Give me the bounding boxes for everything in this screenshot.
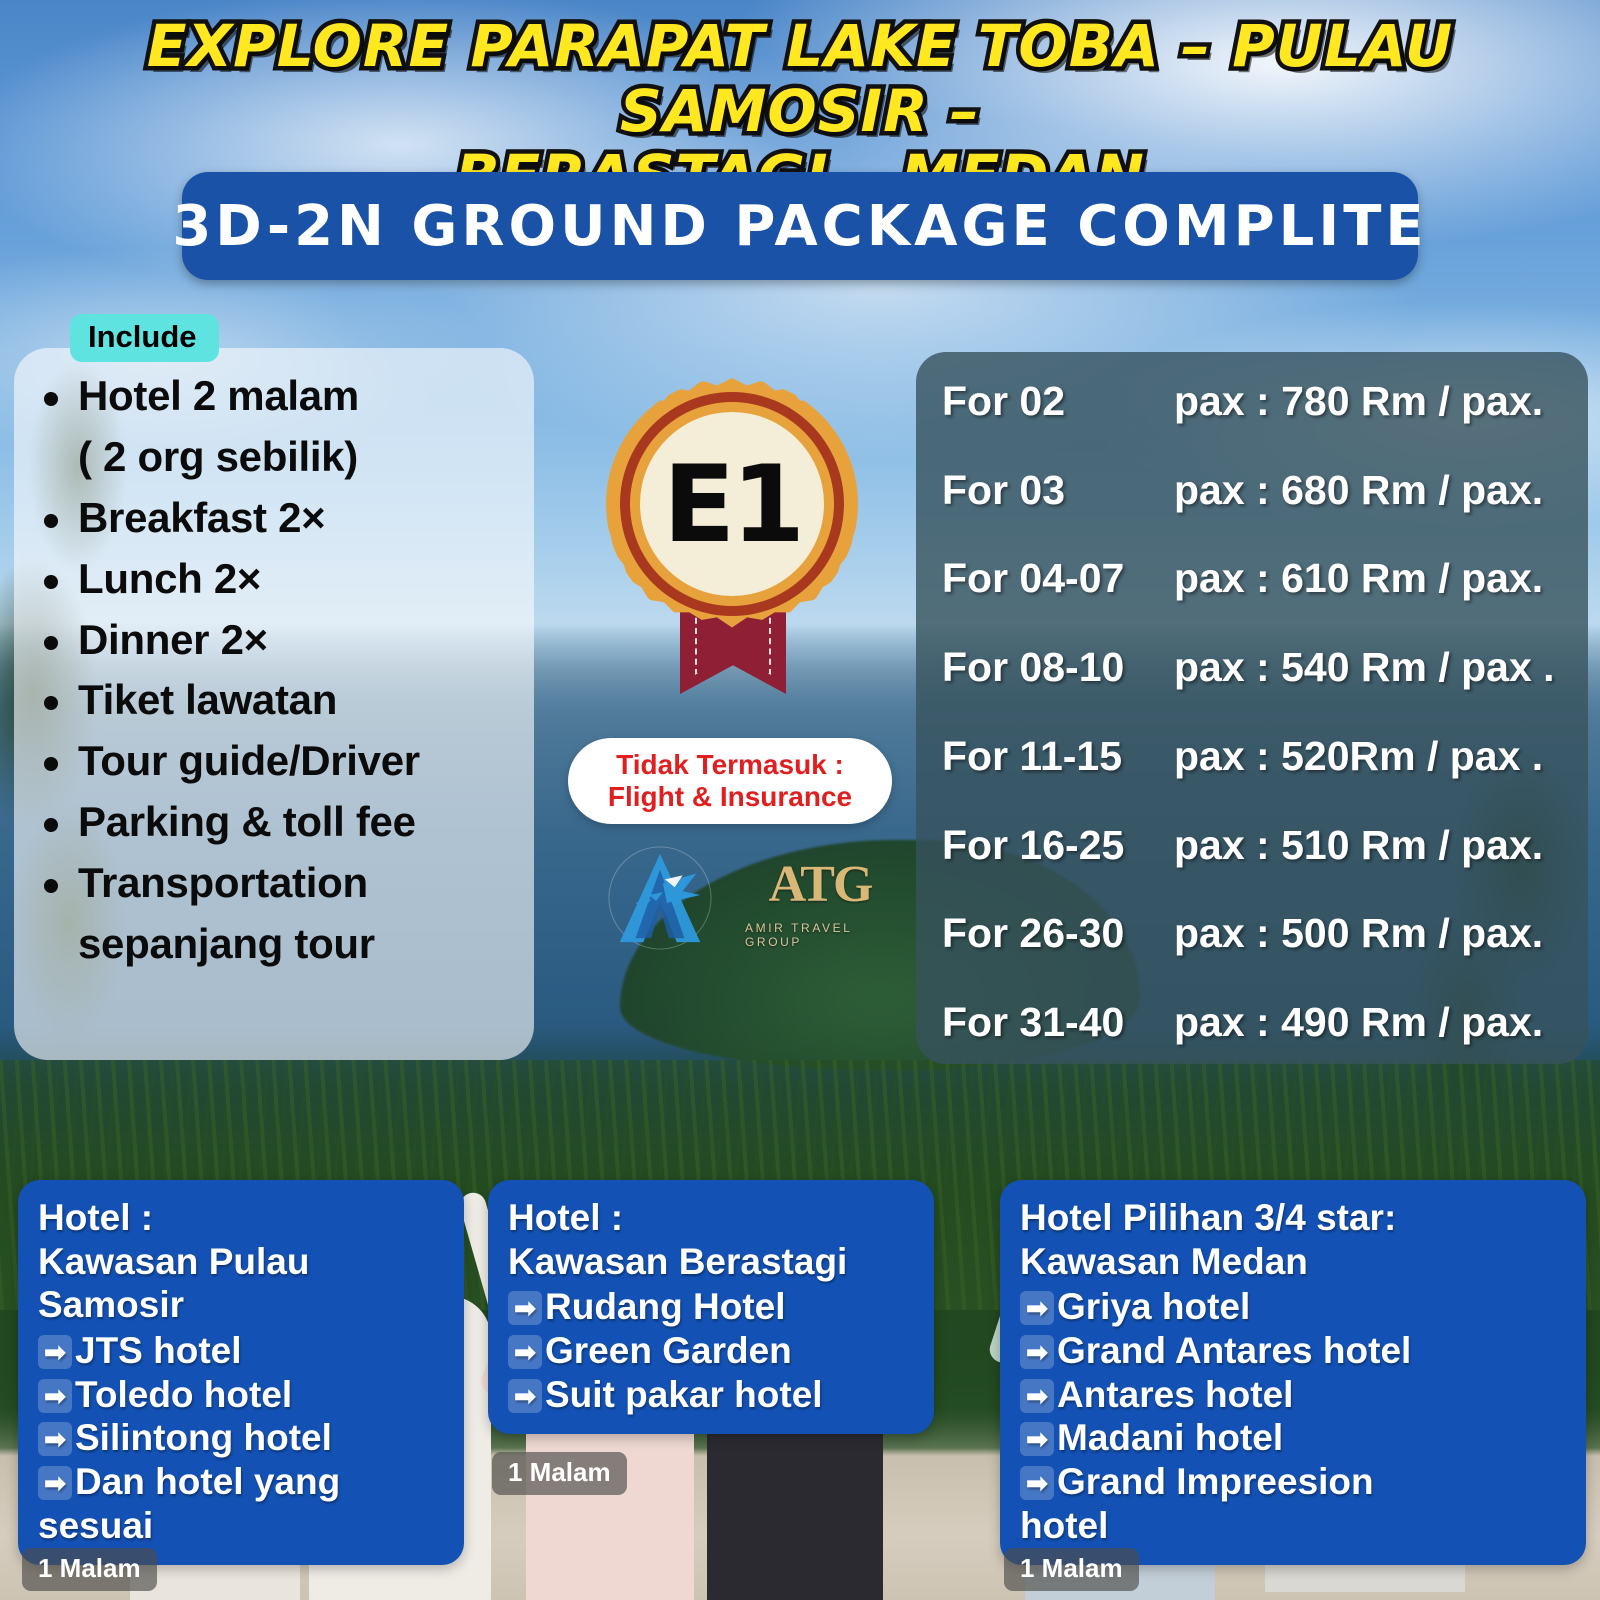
price-row-value: pax : 490 Rm / pax. bbox=[1174, 999, 1566, 1046]
pricing-table: For 02pax : 780 Rm / pax.For 03pax : 680… bbox=[916, 352, 1588, 1064]
include-item: Parking & toll fee bbox=[32, 792, 532, 853]
price-row-label: For 26-30 bbox=[942, 910, 1174, 957]
include-list: Hotel 2 malam( 2 org sebilik)Breakfast 2… bbox=[32, 366, 532, 975]
price-row-label: For 31-40 bbox=[942, 999, 1174, 1046]
hotel-list-item: ➡Rudang Hotel bbox=[508, 1285, 914, 1329]
logo-group: ATG AMIR TRAVEL GROUP bbox=[595, 838, 895, 963]
hotel-name: Green Garden bbox=[545, 1329, 792, 1373]
arrow-right-icon: ➡ bbox=[508, 1291, 542, 1325]
atg-subtitle: AMIR TRAVEL GROUP bbox=[745, 921, 895, 949]
hotel-list-item: ➡Suit pakar hotel bbox=[508, 1373, 914, 1417]
price-row: For 31-40pax : 490 Rm / pax. bbox=[942, 999, 1566, 1046]
exclusions-line2: Flight & Insurance bbox=[608, 781, 852, 813]
price-row: For 16-25pax : 510 Rm / pax. bbox=[942, 822, 1566, 869]
arrow-right-icon: ➡ bbox=[38, 1466, 72, 1500]
price-row: For 04-07pax : 610 Rm / pax. bbox=[942, 555, 1566, 602]
hotel-list-item: ➡Grand Impreesion bbox=[1020, 1460, 1566, 1504]
hotel-card-trailing: sesuai bbox=[38, 1504, 444, 1548]
price-row: For 26-30pax : 500 Rm / pax. bbox=[942, 910, 1566, 957]
arrow-right-icon: ➡ bbox=[38, 1422, 72, 1456]
price-row: For 11-15pax : 520Rm / pax . bbox=[942, 733, 1566, 780]
hotel-card-title: Hotel Pilihan 3/4 star: Kawasan Medan bbox=[1020, 1196, 1566, 1283]
include-item: Tour guide/Driver bbox=[32, 731, 532, 792]
page-title-line1: EXPLORE PARAPAT LAKE TOBA – PULAU SAMOSI… bbox=[80, 14, 1520, 144]
arrow-right-icon: ➡ bbox=[1020, 1422, 1054, 1456]
price-row-value: pax : 610 Rm / pax. bbox=[1174, 555, 1566, 602]
hotel-list-item: ➡Antares hotel bbox=[1020, 1373, 1566, 1417]
hotel-name: Griya hotel bbox=[1057, 1285, 1250, 1329]
hotel-card-trailing: hotel bbox=[1020, 1504, 1566, 1548]
arrow-right-icon: ➡ bbox=[1020, 1466, 1054, 1500]
include-item: Tiket lawatan bbox=[32, 670, 532, 731]
hotel-list-item: ➡Silintong hotel bbox=[38, 1416, 444, 1460]
nights-badge: 1 Malam bbox=[1004, 1548, 1139, 1591]
price-row-label: For 08-10 bbox=[942, 644, 1174, 691]
package-code-label: E1 bbox=[640, 412, 824, 596]
hotel-name: Antares hotel bbox=[1057, 1373, 1293, 1417]
price-row: For 02pax : 780 Rm / pax. bbox=[942, 378, 1566, 425]
hotel-card-samosir: Hotel : Kawasan Pulau Samosir ➡JTS hotel… bbox=[18, 1180, 464, 1565]
hotel-name: Dan hotel yang bbox=[75, 1460, 340, 1504]
hotel-name: Grand Antares hotel bbox=[1057, 1329, 1411, 1373]
price-row: For 08-10pax : 540 Rm / pax . bbox=[942, 644, 1566, 691]
arrow-right-icon: ➡ bbox=[1020, 1335, 1054, 1369]
hotel-name: Silintong hotel bbox=[75, 1416, 332, 1460]
price-row-label: For 03 bbox=[942, 467, 1174, 514]
price-row-value: pax : 520Rm / pax . bbox=[1174, 733, 1566, 780]
exclusions-pill: Tidak Termasuk : Flight & Insurance bbox=[568, 738, 892, 824]
include-item: ( 2 org sebilik) bbox=[32, 427, 532, 488]
price-row-label: For 16-25 bbox=[942, 822, 1174, 869]
hotel-list: ➡JTS hotel➡Toledo hotel➡Silintong hotel➡… bbox=[38, 1329, 444, 1504]
hotel-name: Rudang Hotel bbox=[545, 1285, 785, 1329]
nights-badge: 1 Malam bbox=[492, 1452, 627, 1495]
hotel-list-item: ➡Green Garden bbox=[508, 1329, 914, 1373]
include-item: Transportation bbox=[32, 853, 532, 914]
price-row: For 03pax : 680 Rm / pax. bbox=[942, 467, 1566, 514]
hotel-card-title: Hotel : Kawasan Pulau Samosir bbox=[38, 1196, 444, 1327]
arrow-right-icon: ➡ bbox=[38, 1335, 72, 1369]
hotel-name: Grand Impreesion bbox=[1057, 1460, 1374, 1504]
package-banner: 3D-2N GROUND PACKAGE COMPLITE bbox=[182, 172, 1418, 280]
hotel-list-item: ➡Griya hotel bbox=[1020, 1285, 1566, 1329]
price-row-value: pax : 500 Rm / pax. bbox=[1174, 910, 1566, 957]
arrow-right-icon: ➡ bbox=[508, 1335, 542, 1369]
price-row-value: pax : 780 Rm / pax. bbox=[1174, 378, 1566, 425]
hotel-list-item: ➡Toledo hotel bbox=[38, 1373, 444, 1417]
atg-logo: ATG AMIR TRAVEL GROUP bbox=[745, 848, 895, 960]
include-item: Lunch 2× bbox=[32, 549, 532, 610]
plane-arrow-logo-icon bbox=[605, 844, 715, 952]
include-item: sepanjang tour bbox=[32, 914, 532, 975]
hotel-list: ➡Rudang Hotel➡Green Garden➡Suit pakar ho… bbox=[508, 1285, 914, 1416]
price-row-value: pax : 540 Rm / pax . bbox=[1174, 644, 1566, 691]
package-banner-label: 3D-2N GROUND PACKAGE COMPLITE bbox=[172, 194, 1427, 259]
hotel-name: Toledo hotel bbox=[75, 1373, 292, 1417]
arrow-right-icon: ➡ bbox=[38, 1379, 72, 1413]
price-row-value: pax : 510 Rm / pax. bbox=[1174, 822, 1566, 869]
hotel-list-item: ➡Grand Antares hotel bbox=[1020, 1329, 1566, 1373]
price-row-label: For 04-07 bbox=[942, 555, 1174, 602]
atg-mark: ATG bbox=[769, 859, 872, 911]
include-item: Hotel 2 malam bbox=[32, 366, 532, 427]
hotel-list-item: ➡Madani hotel bbox=[1020, 1416, 1566, 1460]
hotel-list-item: ➡JTS hotel bbox=[38, 1329, 444, 1373]
arrow-right-icon: ➡ bbox=[1020, 1291, 1054, 1325]
hotel-name: Madani hotel bbox=[1057, 1416, 1283, 1460]
package-code-badge: E1 bbox=[592, 378, 872, 708]
hotel-name: Suit pakar hotel bbox=[545, 1373, 823, 1417]
arrow-right-icon: ➡ bbox=[508, 1379, 542, 1413]
hotel-list-item: ➡Dan hotel yang bbox=[38, 1460, 444, 1504]
nights-badge: 1 Malam bbox=[22, 1548, 157, 1591]
price-row-label: For 11-15 bbox=[942, 733, 1174, 780]
hotel-card-title: Hotel : Kawasan Berastagi bbox=[508, 1196, 914, 1283]
include-item: Dinner 2× bbox=[32, 610, 532, 671]
price-row-label: For 02 bbox=[942, 378, 1174, 425]
hotel-name: JTS hotel bbox=[75, 1329, 242, 1373]
hotel-card-berastagi: Hotel : Kawasan Berastagi ➡Rudang Hotel➡… bbox=[488, 1180, 934, 1434]
hotel-card-medan: Hotel Pilihan 3/4 star: Kawasan Medan ➡G… bbox=[1000, 1180, 1586, 1565]
exclusions-line1: Tidak Termasuk : bbox=[616, 749, 844, 781]
arrow-right-icon: ➡ bbox=[1020, 1379, 1054, 1413]
include-item: Breakfast 2× bbox=[32, 488, 532, 549]
price-row-value: pax : 680 Rm / pax. bbox=[1174, 467, 1566, 514]
travel-package-poster: EXPLORE PARAPAT LAKE TOBA – PULAU SAMOSI… bbox=[0, 0, 1600, 1600]
include-badge: Include bbox=[70, 314, 219, 362]
hotel-list: ➡Griya hotel➡Grand Antares hotel➡Antares… bbox=[1020, 1285, 1566, 1503]
